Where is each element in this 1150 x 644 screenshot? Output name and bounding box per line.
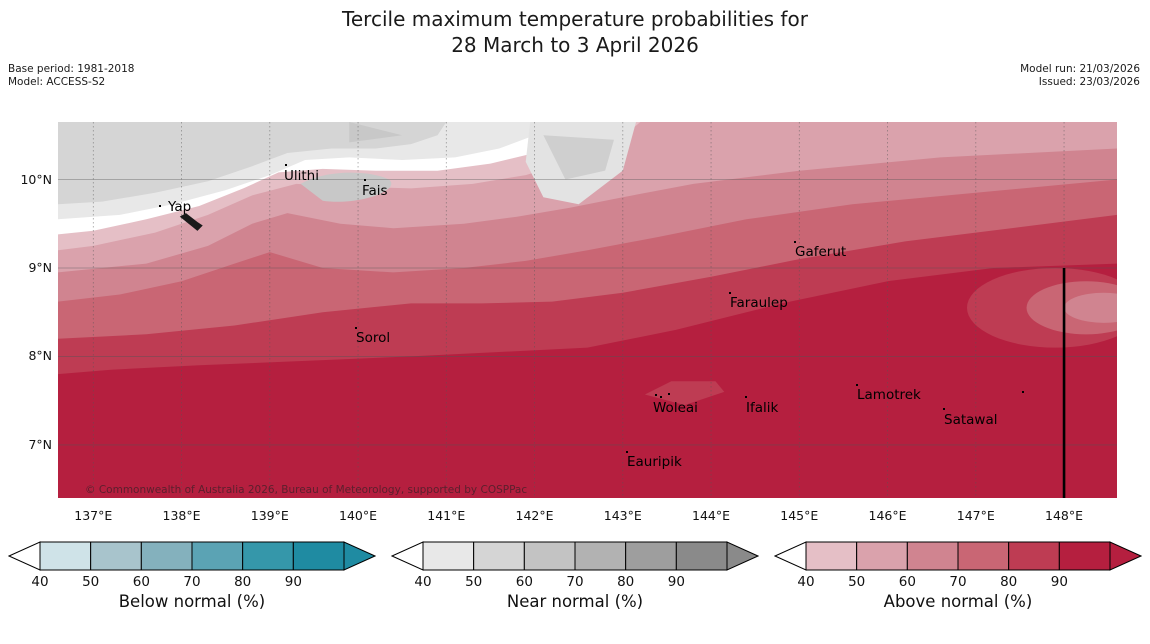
map-contour-layer [58, 122, 1117, 498]
lon-tick-label: 143°E [588, 508, 658, 523]
place-marker-dot [1022, 391, 1024, 393]
lon-tick-label: 142°E [500, 508, 570, 523]
issued-text: Issued: 23/03/2026 [1020, 76, 1140, 89]
place-marker-dot [943, 408, 945, 410]
place-marker-dot [660, 396, 662, 398]
copyright-notice: © Commonwealth of Australia 2026, Bureau… [85, 484, 527, 496]
colorbar-tick-label: 90 [1039, 574, 1079, 590]
place-marker-dot [159, 205, 161, 207]
colorbar-gradient [391, 540, 759, 574]
place-label: Fais [362, 184, 388, 198]
title-line-1: Tercile maximum temperature probabilitie… [342, 7, 808, 31]
colorbar-title: Near normal (%) [391, 592, 759, 611]
colorbar-title: Above normal (%) [774, 592, 1142, 611]
lon-tick-label: 147°E [941, 508, 1011, 523]
colorbar-tick-label: 60 [504, 574, 544, 590]
lon-tick-label: 144°E [676, 508, 746, 523]
metadata-left: Base period: 1981-2018 Model: ACCESS-S2 [8, 63, 134, 89]
colorbar-above-normal[interactable]: 405060708090Above normal (%) [774, 540, 1142, 640]
colorbar-tick-row: 405060708090 [774, 574, 1142, 592]
lat-tick-label: 8°N [2, 348, 52, 363]
lon-tick-label: 146°E [853, 508, 923, 523]
colorbar-gradient [774, 540, 1142, 574]
colorbar-tick-label: 90 [273, 574, 313, 590]
place-label: Woleai [653, 401, 698, 415]
place-marker-dot [856, 384, 858, 386]
place-label: Eauripik [627, 455, 682, 469]
colorbar-gradient [8, 540, 376, 574]
lon-tick-label: 138°E [147, 508, 217, 523]
colorbar-tick-label: 40 [786, 574, 826, 590]
place-marker-dot [626, 451, 628, 453]
colorbar-tick-label: 70 [555, 574, 595, 590]
colorbar-tick-label: 50 [71, 574, 111, 590]
lon-tick-label: 139°E [235, 508, 305, 523]
place-marker-dot [285, 164, 287, 166]
place-label: Yap [168, 200, 191, 214]
lon-tick-label: 140°E [323, 508, 393, 523]
colorbar-tick-label: 80 [606, 574, 646, 590]
colorbar-tick-label: 40 [20, 574, 60, 590]
title-line-2: 28 March to 3 April 2026 [0, 32, 1150, 58]
model-run-text: Model run: 21/03/2026 [1020, 63, 1140, 76]
lon-tick-label: 145°E [764, 508, 834, 523]
place-marker-dot [355, 327, 357, 329]
place-label: Gaferut [795, 245, 846, 259]
model-text: Model: ACCESS-S2 [8, 76, 134, 89]
place-marker-dot [794, 241, 796, 243]
colorbar-below-normal[interactable]: 405060708090Below normal (%) [8, 540, 376, 640]
place-label: Ifalik [746, 401, 778, 415]
place-label: Faraulep [730, 296, 788, 310]
forecast-map-page: Tercile maximum temperature probabilitie… [0, 0, 1150, 644]
lat-tick-label: 7°N [2, 437, 52, 452]
place-marker-dot [668, 393, 670, 395]
colorbar-title: Below normal (%) [8, 592, 376, 611]
colorbar-tick-label: 70 [172, 574, 212, 590]
probability-map[interactable] [58, 122, 1117, 498]
colorbar-tick-label: 60 [887, 574, 927, 590]
colorbar-tick-row: 405060708090 [8, 574, 376, 592]
page-title: Tercile maximum temperature probabilitie… [0, 6, 1150, 58]
base-period-text: Base period: 1981-2018 [8, 63, 134, 76]
colorbar-tick-label: 70 [938, 574, 978, 590]
colorbar-tick-label: 80 [223, 574, 263, 590]
place-marker-dot [364, 179, 366, 181]
lon-tick-label: 148°E [1029, 508, 1099, 523]
place-label: Lamotrek [857, 388, 921, 402]
colorbar-tick-label: 60 [121, 574, 161, 590]
colorbar-tick-label: 50 [454, 574, 494, 590]
lon-tick-label: 141°E [411, 508, 481, 523]
place-label: Satawal [944, 413, 997, 427]
place-marker-dot [745, 396, 747, 398]
lon-tick-label: 137°E [58, 508, 128, 523]
metadata-right: Model run: 21/03/2026 Issued: 23/03/2026 [1020, 63, 1140, 89]
colorbar-tick-label: 50 [837, 574, 877, 590]
place-marker-dot [729, 292, 731, 294]
place-label: Sorol [356, 331, 390, 345]
place-marker-dot [655, 394, 657, 396]
colorbar-near-normal[interactable]: 405060708090Near normal (%) [391, 540, 759, 640]
colorbar-tick-label: 80 [989, 574, 1029, 590]
colorbar-tick-label: 40 [403, 574, 443, 590]
colorbar-tick-label: 90 [656, 574, 696, 590]
place-label: Ulithi [284, 169, 319, 183]
lat-tick-label: 9°N [2, 260, 52, 275]
lat-tick-label: 10°N [2, 172, 52, 187]
colorbar-tick-row: 405060708090 [391, 574, 759, 592]
